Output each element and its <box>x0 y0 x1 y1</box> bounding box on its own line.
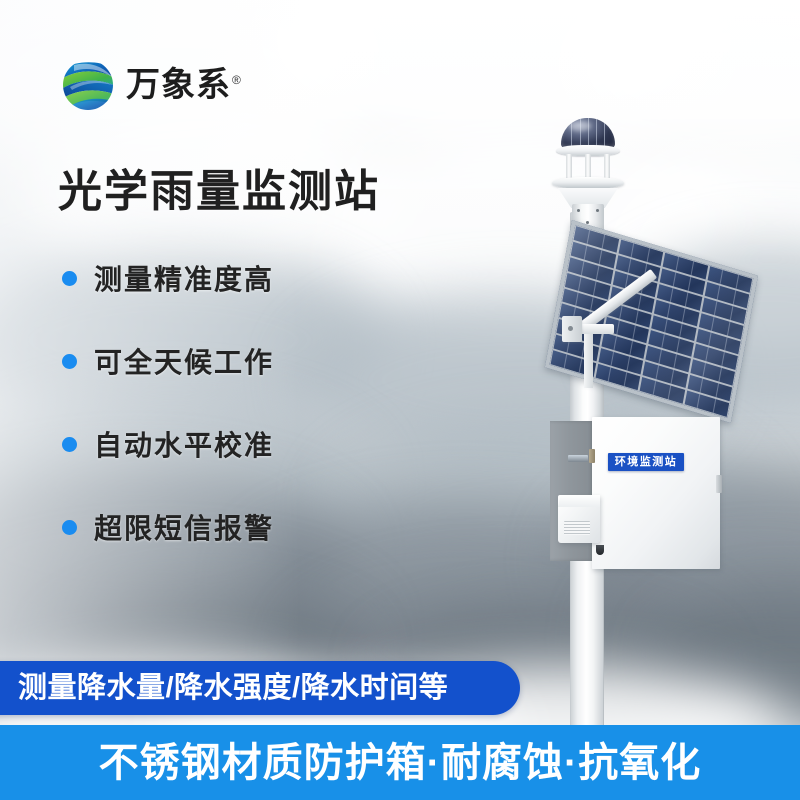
brand-name-text: 万象系 <box>126 66 231 104</box>
globe-sphere-logo-icon <box>60 57 116 113</box>
bottom-tagline-bar: 不锈钢材质防护箱·耐腐蚀·抗氧化 <box>0 725 800 800</box>
cabinet-side-vent <box>568 455 588 462</box>
cabinet-vent-box <box>558 495 600 543</box>
feature-label: 超限短信报警 <box>94 507 274 547</box>
registered-trademark-icon: ® <box>232 73 242 87</box>
capability-banner: 测量降水量/降水强度/降水时间等 <box>0 661 520 715</box>
sensor-mid-disc <box>552 177 624 189</box>
equipment-cabinet: 环境监测站 <box>550 417 720 572</box>
sensor-post <box>604 154 610 180</box>
vent-louvers-icon <box>564 521 590 535</box>
brand-name: 万象系® <box>126 68 242 102</box>
solar-panel-assembly <box>558 218 768 403</box>
list-item: 测量精准度高 <box>62 258 274 298</box>
capability-banner-text: 测量降水量/降水强度/降水时间等 <box>18 674 448 703</box>
solar-panel-strut <box>584 328 593 388</box>
brand-logo: 万象系® <box>60 57 242 113</box>
optical-rain-sensor <box>546 118 630 224</box>
page-title: 光学雨量监测站 <box>58 168 380 216</box>
list-item: 超限短信报警 <box>62 507 274 547</box>
product-poster: 环境监测站 <box>0 0 800 800</box>
bullet-dot-icon <box>62 520 77 535</box>
feature-label: 自动水平校准 <box>94 424 274 464</box>
feature-label: 可全天候工作 <box>94 341 274 381</box>
cabinet-label-plate: 环境监测站 <box>608 453 684 471</box>
cabinet-cable-gland <box>596 545 604 555</box>
bullet-dot-icon <box>62 437 77 452</box>
cabinet-latch <box>716 475 722 493</box>
vent-box-top <box>558 495 600 507</box>
feature-label: 测量精准度高 <box>94 258 274 298</box>
cabinet-hinge <box>589 449 595 463</box>
bullet-dot-icon <box>62 354 77 369</box>
cabinet-door <box>592 417 720 569</box>
sensor-dome-icon <box>561 118 615 148</box>
mounting-pole-lower <box>571 560 603 732</box>
sensor-post <box>566 154 572 180</box>
bullet-dot-icon <box>62 271 77 286</box>
cabinet-label-text: 环境监测站 <box>615 457 678 468</box>
list-item: 可全天候工作 <box>62 341 274 381</box>
feature-list: 测量精准度高 可全天候工作 自动水平校准 超限短信报警 <box>62 258 274 547</box>
clamp-bolt-icon <box>568 326 573 331</box>
list-item: 自动水平校准 <box>62 424 274 464</box>
bottom-tagline-text: 不锈钢材质防护箱·耐腐蚀·抗氧化 <box>99 743 702 783</box>
